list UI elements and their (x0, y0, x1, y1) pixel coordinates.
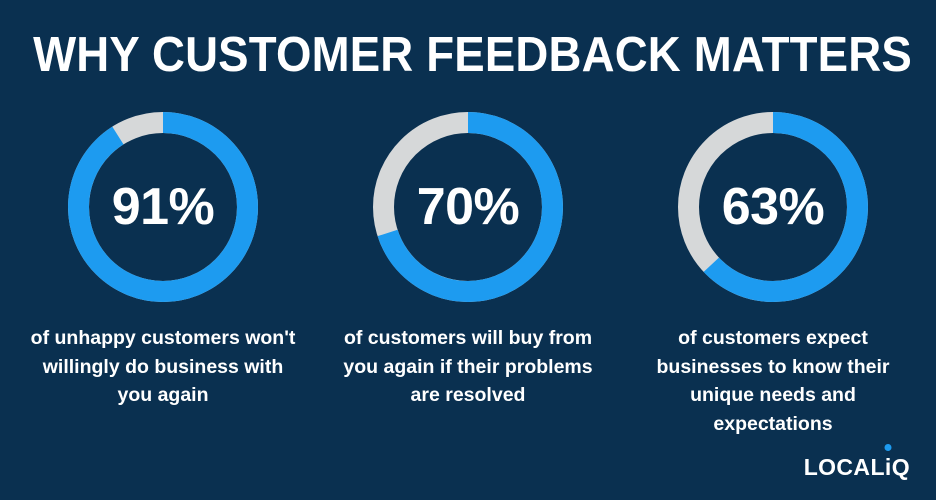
donut-value-label-1: 91% (68, 112, 258, 302)
stat-card-1: 91% of unhappy customers won't willingly… (18, 112, 308, 410)
donut-chart-2: 70% (373, 112, 563, 302)
logo-i-glyph: i (885, 454, 892, 480)
stat-card-2: 70% of customers will buy from you again… (323, 112, 613, 410)
infographic-canvas: WHY CUSTOMER FEEDBACK MATTERS 91% of unh… (0, 0, 936, 500)
stats-row: 91% of unhappy customers won't willingly… (0, 112, 936, 438)
donut-value-label-2: 70% (373, 112, 563, 302)
logo-i-dot-icon (885, 444, 892, 451)
stat-caption-2: of customers will buy from you again if … (332, 324, 604, 410)
logo-letter-i: i (885, 456, 892, 479)
logo-text-part2: Q (892, 456, 910, 479)
localiq-logo: LOCAL i Q (804, 456, 910, 482)
donut-chart-3: 63% (678, 112, 868, 302)
logo-text-part1: LOCAL (804, 456, 885, 479)
title-row: WHY CUSTOMER FEEDBACK MATTERS (0, 26, 936, 84)
donut-value-label-3: 63% (678, 112, 868, 302)
stat-card-3: 63% of customers expect businesses to kn… (628, 112, 918, 438)
donut-chart-1: 91% (68, 112, 258, 302)
stat-caption-1: of unhappy customers won't willingly do … (27, 324, 299, 410)
page-title: WHY CUSTOMER FEEDBACK MATTERS (33, 26, 912, 84)
stat-caption-3: of customers expect businesses to know t… (637, 324, 909, 438)
